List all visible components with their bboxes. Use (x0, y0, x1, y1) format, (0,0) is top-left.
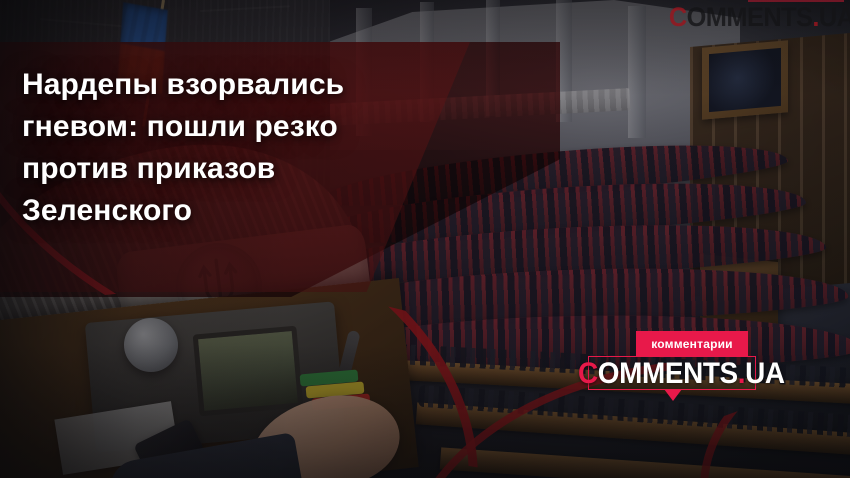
watermark-tld: UA (818, 2, 850, 32)
headline-line-3: против приказов (22, 148, 432, 190)
watermark-mid: OMMENTS (686, 2, 812, 32)
watermark-letter-c: C (668, 2, 686, 32)
logo-dot: . (738, 359, 745, 389)
news-cover-card: Нардепы взорвались гневом: пошли резко п… (0, 0, 850, 478)
site-logo[interactable]: комментарии COMMENTS.UA (578, 331, 758, 399)
logo-bubble-tail (664, 389, 682, 401)
watermark-comments-ua: COMMENTS.UA (668, 4, 850, 31)
headline-line-1: Нардепы взорвались (22, 64, 432, 106)
logo-tld: UA (745, 359, 785, 389)
watermark-dot: . (812, 2, 818, 32)
logo-letter-c: C (578, 359, 598, 389)
headline-line-4: Зеленского (22, 190, 432, 232)
logo-mid: OMMENTS (598, 359, 738, 389)
headline-line-2: гневом: пошли резко (22, 106, 432, 148)
logo-tagline: комментарии (651, 338, 733, 350)
logo-wordmark: COMMENTS.UA (578, 357, 745, 391)
logo-tagline-bubble: комментарии (636, 331, 748, 356)
page-title: Нардепы взорвались гневом: пошли резко п… (22, 64, 432, 232)
